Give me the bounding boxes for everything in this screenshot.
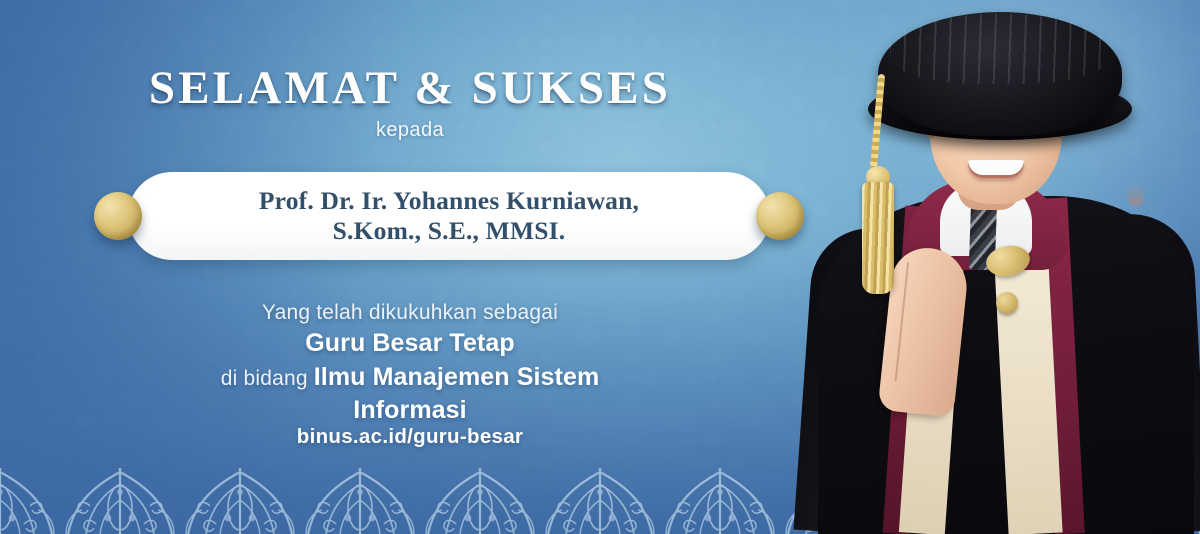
citation-line-4: Informasi [0,394,820,427]
honoree-photo [790,0,1200,534]
tam-pleats [890,14,1110,84]
citation-line-3: di bidang Ilmu Manajemen Sistem [0,361,820,394]
honoree-plaque: Prof. Dr. Ir. Yohannes Kurniawan, S.Kom.… [0,172,820,262]
gold-medallion-small [996,292,1018,314]
plaque-panel: Prof. Dr. Ir. Yohannes Kurniawan, S.Kom.… [128,172,770,260]
citation-block: Yang telah dikukuhkan sebagai Guru Besar… [0,299,820,427]
gold-bead-left-icon [94,192,142,240]
gold-tassel-icon [862,182,894,294]
nose [1128,184,1144,206]
banner-text-content: SELAMAT & SUKSES kepada Prof. Dr. Ir. Yo… [0,0,820,534]
citation-line-3-prefix: di bidang [221,367,314,390]
website-url[interactable]: binus.ac.id/guru-besar [0,425,820,449]
smiling-mouth [968,160,1024,178]
citation-line-2: Guru Besar Tetap [0,327,820,360]
congratulations-banner: SELAMAT & SUKSES kepada Prof. Dr. Ir. Yo… [0,0,1200,534]
citation-line-3-field: Ilmu Manajemen Sistem [314,363,600,391]
citation-line-1: Yang telah dikukuhkan sebagai [0,299,820,326]
page-title: SELAMAT & SUKSES [0,61,820,115]
honoree-name: Prof. Dr. Ir. Yohannes Kurniawan, S.Kom.… [233,186,665,246]
subtitle-kepada: kepada [0,119,820,142]
